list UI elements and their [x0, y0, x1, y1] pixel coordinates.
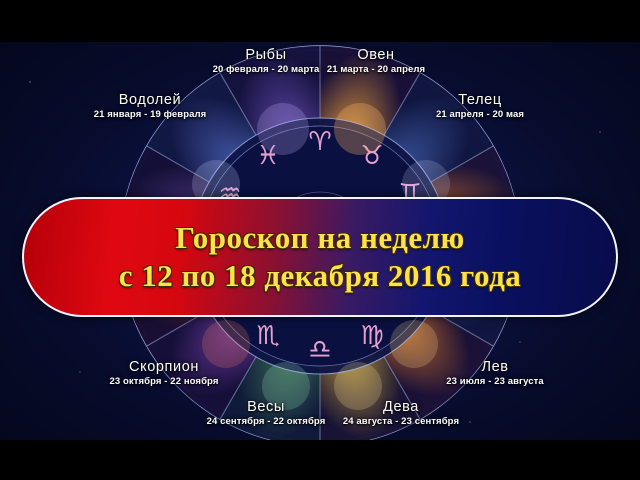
horoscope-poster-image: ♈ ♉ ♊ ♋ ♌ ♍ ♎ ♏ ♐ ♑ ♒ ♓: [0, 42, 640, 440]
poster-canvas: ♈ ♉ ♊ ♋ ♌ ♍ ♎ ♏ ♐ ♑ ♒ ♓: [0, 0, 640, 480]
zodiac-name-libra: Весы: [196, 400, 336, 415]
zodiac-name-aquarius: Водолей: [80, 93, 220, 108]
headline-line-2: с 12 по 18 декабря 2016 года: [119, 259, 522, 294]
zodiac-label-virgo: Дева 24 августа - 23 сентября: [326, 400, 476, 427]
zodiac-dates-leo: 23 июля - 23 августа: [420, 377, 570, 387]
zodiac-name-leo: Лев: [420, 360, 570, 375]
letterbox-bar-top: [0, 0, 640, 42]
zodiac-label-aquarius: Водолей 21 января - 19 февраля: [80, 93, 220, 120]
zodiac-name-aries: Овен: [306, 48, 446, 63]
zodiac-label-libra: Весы 24 сентября - 22 октября: [196, 400, 336, 427]
zodiac-dates-virgo: 24 августа - 23 сентября: [326, 417, 476, 427]
zodiac-dates-aries: 21 марта - 20 апреля: [306, 65, 446, 75]
zodiac-label-taurus: Телец 21 апреля - 20 мая: [410, 93, 550, 120]
zodiac-dates-taurus: 21 апреля - 20 мая: [410, 110, 550, 120]
svg-text:♎: ♎: [308, 335, 331, 365]
headline-banner: Гороскоп на неделю с 12 по 18 декабря 20…: [22, 197, 618, 317]
zodiac-label-scorpio: Скорпион 23 октября - 22 ноября: [86, 360, 242, 387]
zodiac-dates-scorpio: 23 октября - 22 ноября: [86, 377, 242, 387]
zodiac-name-taurus: Телец: [410, 93, 550, 108]
zodiac-name-scorpio: Скорпион: [86, 360, 242, 375]
headline-line-1: Гороскоп на неделю: [175, 221, 464, 256]
zodiac-name-virgo: Дева: [326, 400, 476, 415]
zodiac-label-leo: Лев 23 июля - 23 августа: [420, 360, 570, 387]
zodiac-dates-aquarius: 21 января - 19 февраля: [80, 110, 220, 120]
svg-text:♍: ♍: [360, 321, 383, 351]
zodiac-label-aries: Овен 21 марта - 20 апреля: [306, 48, 446, 75]
svg-text:♏: ♏: [256, 321, 279, 351]
zodiac-dates-libra: 24 сентября - 22 октября: [196, 417, 336, 427]
letterbox-bar-bottom: [0, 440, 640, 480]
svg-text:♈: ♈: [308, 127, 331, 157]
